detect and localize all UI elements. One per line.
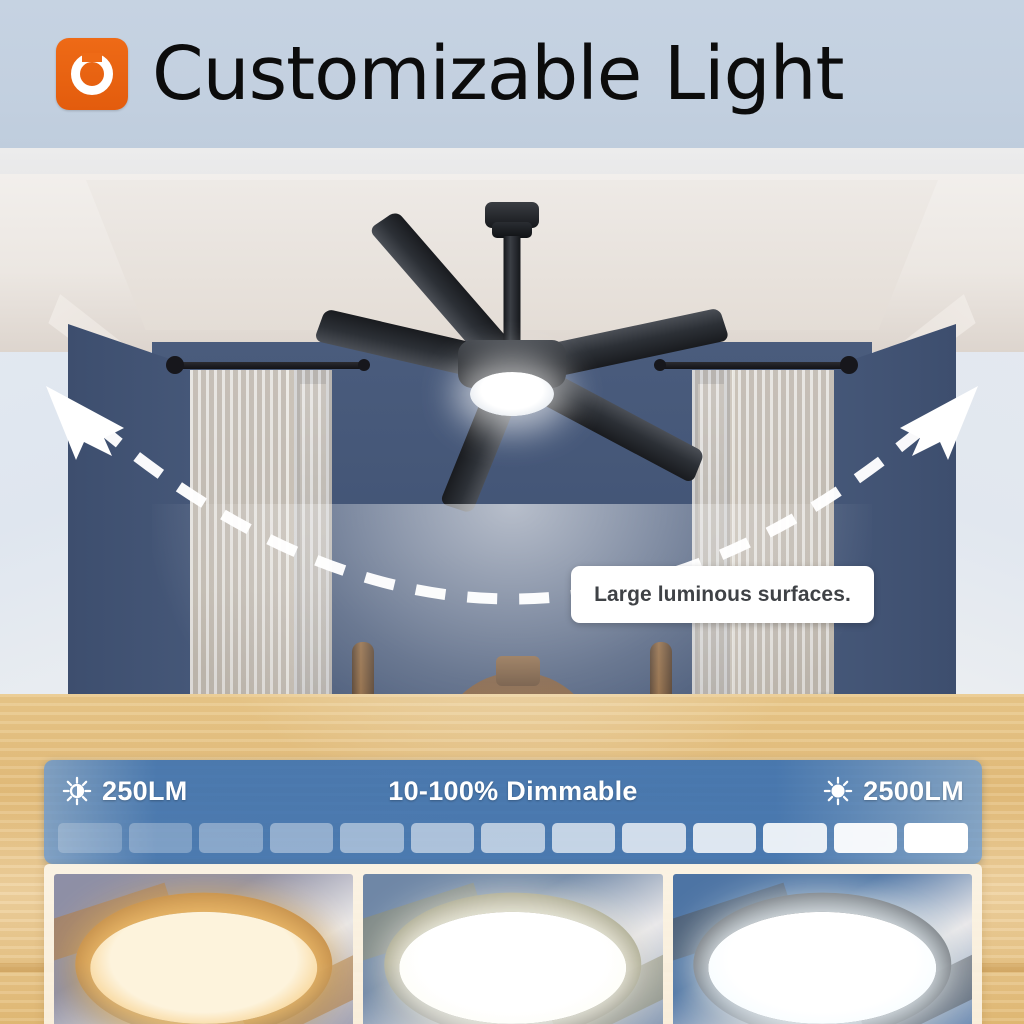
color-temperature-panel: 3000K4000K6000K 3 Color Temperature Sele… <box>44 864 982 1024</box>
dimmer-segment[interactable] <box>340 823 404 853</box>
fixture-light-lens <box>709 912 936 1024</box>
dimmer-range-label: 10-100% Dimmable <box>388 776 637 806</box>
dimmer-segment[interactable] <box>763 823 827 853</box>
dimmer-segment-track[interactable] <box>58 823 968 853</box>
color-temperature-card[interactable]: 6000K <box>673 874 972 1024</box>
dimmer-min-group: 250LM <box>62 776 188 807</box>
dimmer-min-label: 250LM <box>102 776 188 807</box>
logo-ring-shape <box>71 53 113 95</box>
infographic-root: Customizable Light <box>0 0 1024 1024</box>
dimmer-segment[interactable] <box>270 823 334 853</box>
sun-bright-icon <box>823 776 853 806</box>
dimmer-segment[interactable] <box>129 823 193 853</box>
dimmer-center-group: 10-100% Dimmable <box>388 776 637 807</box>
dimmer-max-label: 2500LM <box>863 776 964 807</box>
ring-logo-icon <box>56 38 128 110</box>
page-header: Customizable Light <box>0 0 1024 148</box>
dimmer-segment[interactable] <box>58 823 122 853</box>
color-temperature-card[interactable]: 4000K <box>363 874 662 1024</box>
dimmer-bar[interactable]: 250LM 10-100% Dimmable <box>44 760 982 864</box>
room-scene: Large luminous surfaces. <box>0 174 1024 1024</box>
dimmer-segment[interactable] <box>199 823 263 853</box>
fixture-photo-natural-white <box>363 874 662 1024</box>
fixture-light-lens <box>90 912 317 1024</box>
dimmer-segment[interactable] <box>552 823 616 853</box>
dimmer-segment[interactable] <box>904 823 968 853</box>
callout-text: Large luminous surfaces. <box>594 583 851 607</box>
dimmer-segment[interactable] <box>411 823 475 853</box>
dimmer-segment[interactable] <box>622 823 686 853</box>
sun-dim-icon <box>62 776 92 806</box>
fixture-photo-cool-white <box>673 874 972 1024</box>
fixture-photo-warm-white <box>54 874 353 1024</box>
ceiling-fan <box>252 202 772 452</box>
fan-downrod <box>504 236 521 346</box>
page-title: Customizable Light <box>152 37 844 111</box>
color-temperature-card[interactable]: 3000K <box>54 874 353 1024</box>
fan-led-light <box>470 372 554 416</box>
dimmer-segment[interactable] <box>693 823 757 853</box>
dimmer-max-group: 2500LM <box>823 776 964 807</box>
color-temperature-cards: 3000K4000K6000K <box>54 874 972 1024</box>
dimmer-segment[interactable] <box>834 823 898 853</box>
callout-bubble: Large luminous surfaces. <box>571 566 874 623</box>
dimmer-bar-labels: 250LM 10-100% Dimmable <box>44 760 982 822</box>
fixture-light-lens <box>399 912 626 1024</box>
dimmer-segment[interactable] <box>481 823 545 853</box>
header-divider <box>0 148 1024 174</box>
